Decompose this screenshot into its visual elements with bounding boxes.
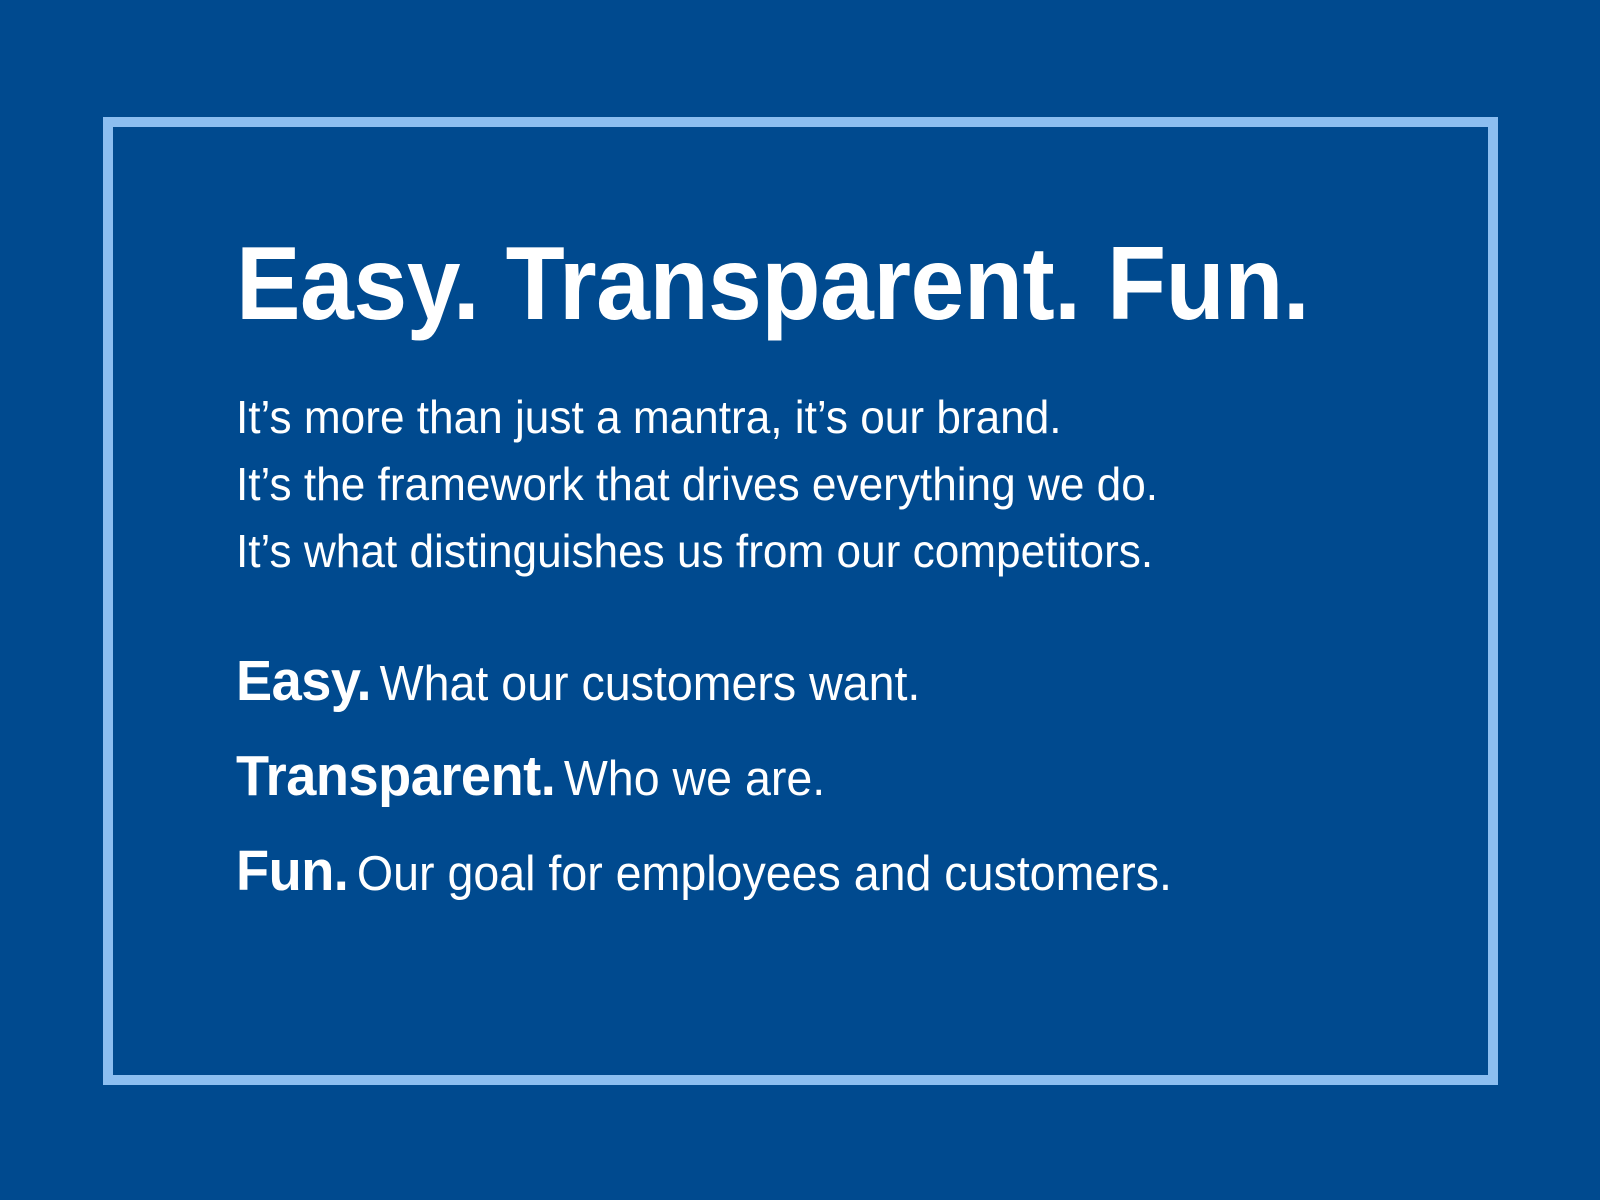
intro-line: It’s more than just a mantra, it’s our b… <box>236 384 1330 451</box>
slide-canvas: Easy. Transparent. Fun. It’s more than j… <box>0 0 1600 1200</box>
pillar-term: Fun. <box>236 839 348 903</box>
page-title: Easy. Transparent. Fun. <box>236 232 1296 336</box>
slide-content: Easy. Transparent. Fun. It’s more than j… <box>236 232 1376 926</box>
pillar-list: Easy.What our customers want. Transparen… <box>236 585 1376 926</box>
pillar-term: Easy. <box>236 649 371 713</box>
list-item: Transparent.Who we are. <box>236 736 1319 831</box>
intro-line: It’s the framework that drives everythin… <box>236 451 1330 518</box>
list-item: Fun.Our goal for employees and customers… <box>236 831 1319 926</box>
intro-paragraph: It’s more than just a mantra, it’s our b… <box>236 336 1376 585</box>
intro-line: It’s what distinguishes us from our comp… <box>236 518 1330 585</box>
pillar-term: Transparent. <box>236 744 555 808</box>
pillar-description: Who we are. <box>555 752 825 806</box>
list-item: Easy.What our customers want. <box>236 641 1319 736</box>
pillar-description: Our goal for employees and customers. <box>348 847 1172 901</box>
pillar-description: What our customers want. <box>371 657 920 711</box>
